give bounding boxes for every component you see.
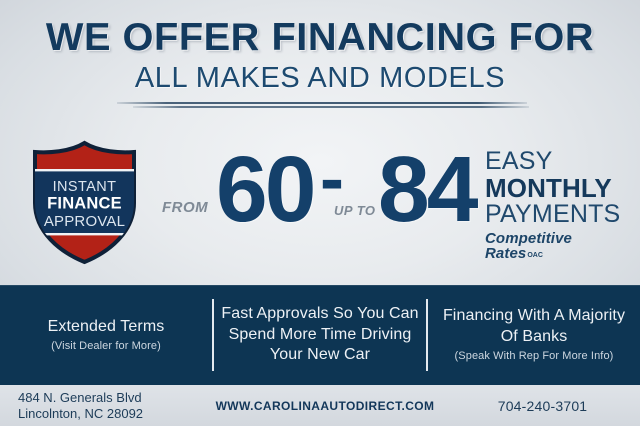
benefit-column-3: Financing With A Majority Of Banks (Spea… — [428, 306, 640, 363]
page-title: WE OFFER FINANCING FOR — [0, 18, 640, 57]
oac-disclaimer: OAC — [527, 252, 543, 259]
page-subtitle: ALL MAKES AND MODELS — [0, 64, 640, 93]
benefit-3-note: (Speak With Rep For More Info) — [434, 349, 634, 363]
address-line-2: Lincolnton, NC 28092 — [18, 406, 205, 421]
header-block: WE OFFER FINANCING FOR ALL MAKES AND MOD… — [0, 18, 640, 108]
benefit-1-title: Extended Terms — [6, 317, 206, 337]
badge-line3-text: APPROVAL — [44, 213, 125, 230]
payments-stack: EASY MONTHLY PAYMENTS Competitive RatesO… — [485, 149, 630, 261]
term-max-value: 84 — [378, 143, 475, 236]
term-min-value: 60 — [216, 143, 313, 236]
badge-line2-text: FINANCE — [47, 195, 122, 213]
dealer-address: 484 N. Generals Blvd Lincolnton, NC 2809… — [0, 390, 205, 421]
offer-terms-block: FROM 60 - UP TO 84 EASY MONTHLY PAYMENTS… — [160, 137, 630, 267]
divider-rule-bottom — [133, 106, 529, 108]
benefits-band: Extended Terms (Visit Dealer for More) F… — [0, 285, 640, 385]
divider-group — [0, 102, 640, 108]
from-label: FROM — [162, 199, 208, 216]
payments-label: PAYMENTS — [485, 202, 630, 227]
financing-ad-banner: WE OFFER FINANCING FOR ALL MAKES AND MOD… — [0, 0, 640, 426]
benefit-3-title: Financing With A Majority Of Banks — [434, 306, 634, 347]
footer-bar: 484 N. Generals Blvd Lincolnton, NC 2809… — [0, 385, 640, 426]
instant-finance-approval-shield-icon: INSTANT FINANCE APPROVAL — [22, 140, 147, 265]
badge-line1-text: INSTANT — [53, 179, 117, 195]
dealer-website-link[interactable]: WWW.CAROLINAAUTODIRECT.COM — [205, 399, 445, 413]
benefit-column-1: Extended Terms (Visit Dealer for More) — [0, 317, 212, 354]
benefit-column-2: Fast Approvals So You Can Spend More Tim… — [214, 304, 426, 365]
up-to-label: UP TO — [334, 203, 376, 218]
easy-label: EASY — [485, 149, 630, 174]
dealer-phone-link[interactable]: 704-240-3701 — [445, 398, 640, 414]
benefit-2-title: Fast Approvals So You Can Spend More Tim… — [220, 304, 420, 365]
benefit-1-note: (Visit Dealer for More) — [6, 339, 206, 353]
divider-rule-top — [117, 102, 527, 104]
address-line-1: 484 N. Generals Blvd — [18, 390, 205, 405]
competitive-rates-label: Competitive RatesOAC — [485, 231, 630, 261]
monthly-label: MONTHLY — [485, 175, 630, 201]
